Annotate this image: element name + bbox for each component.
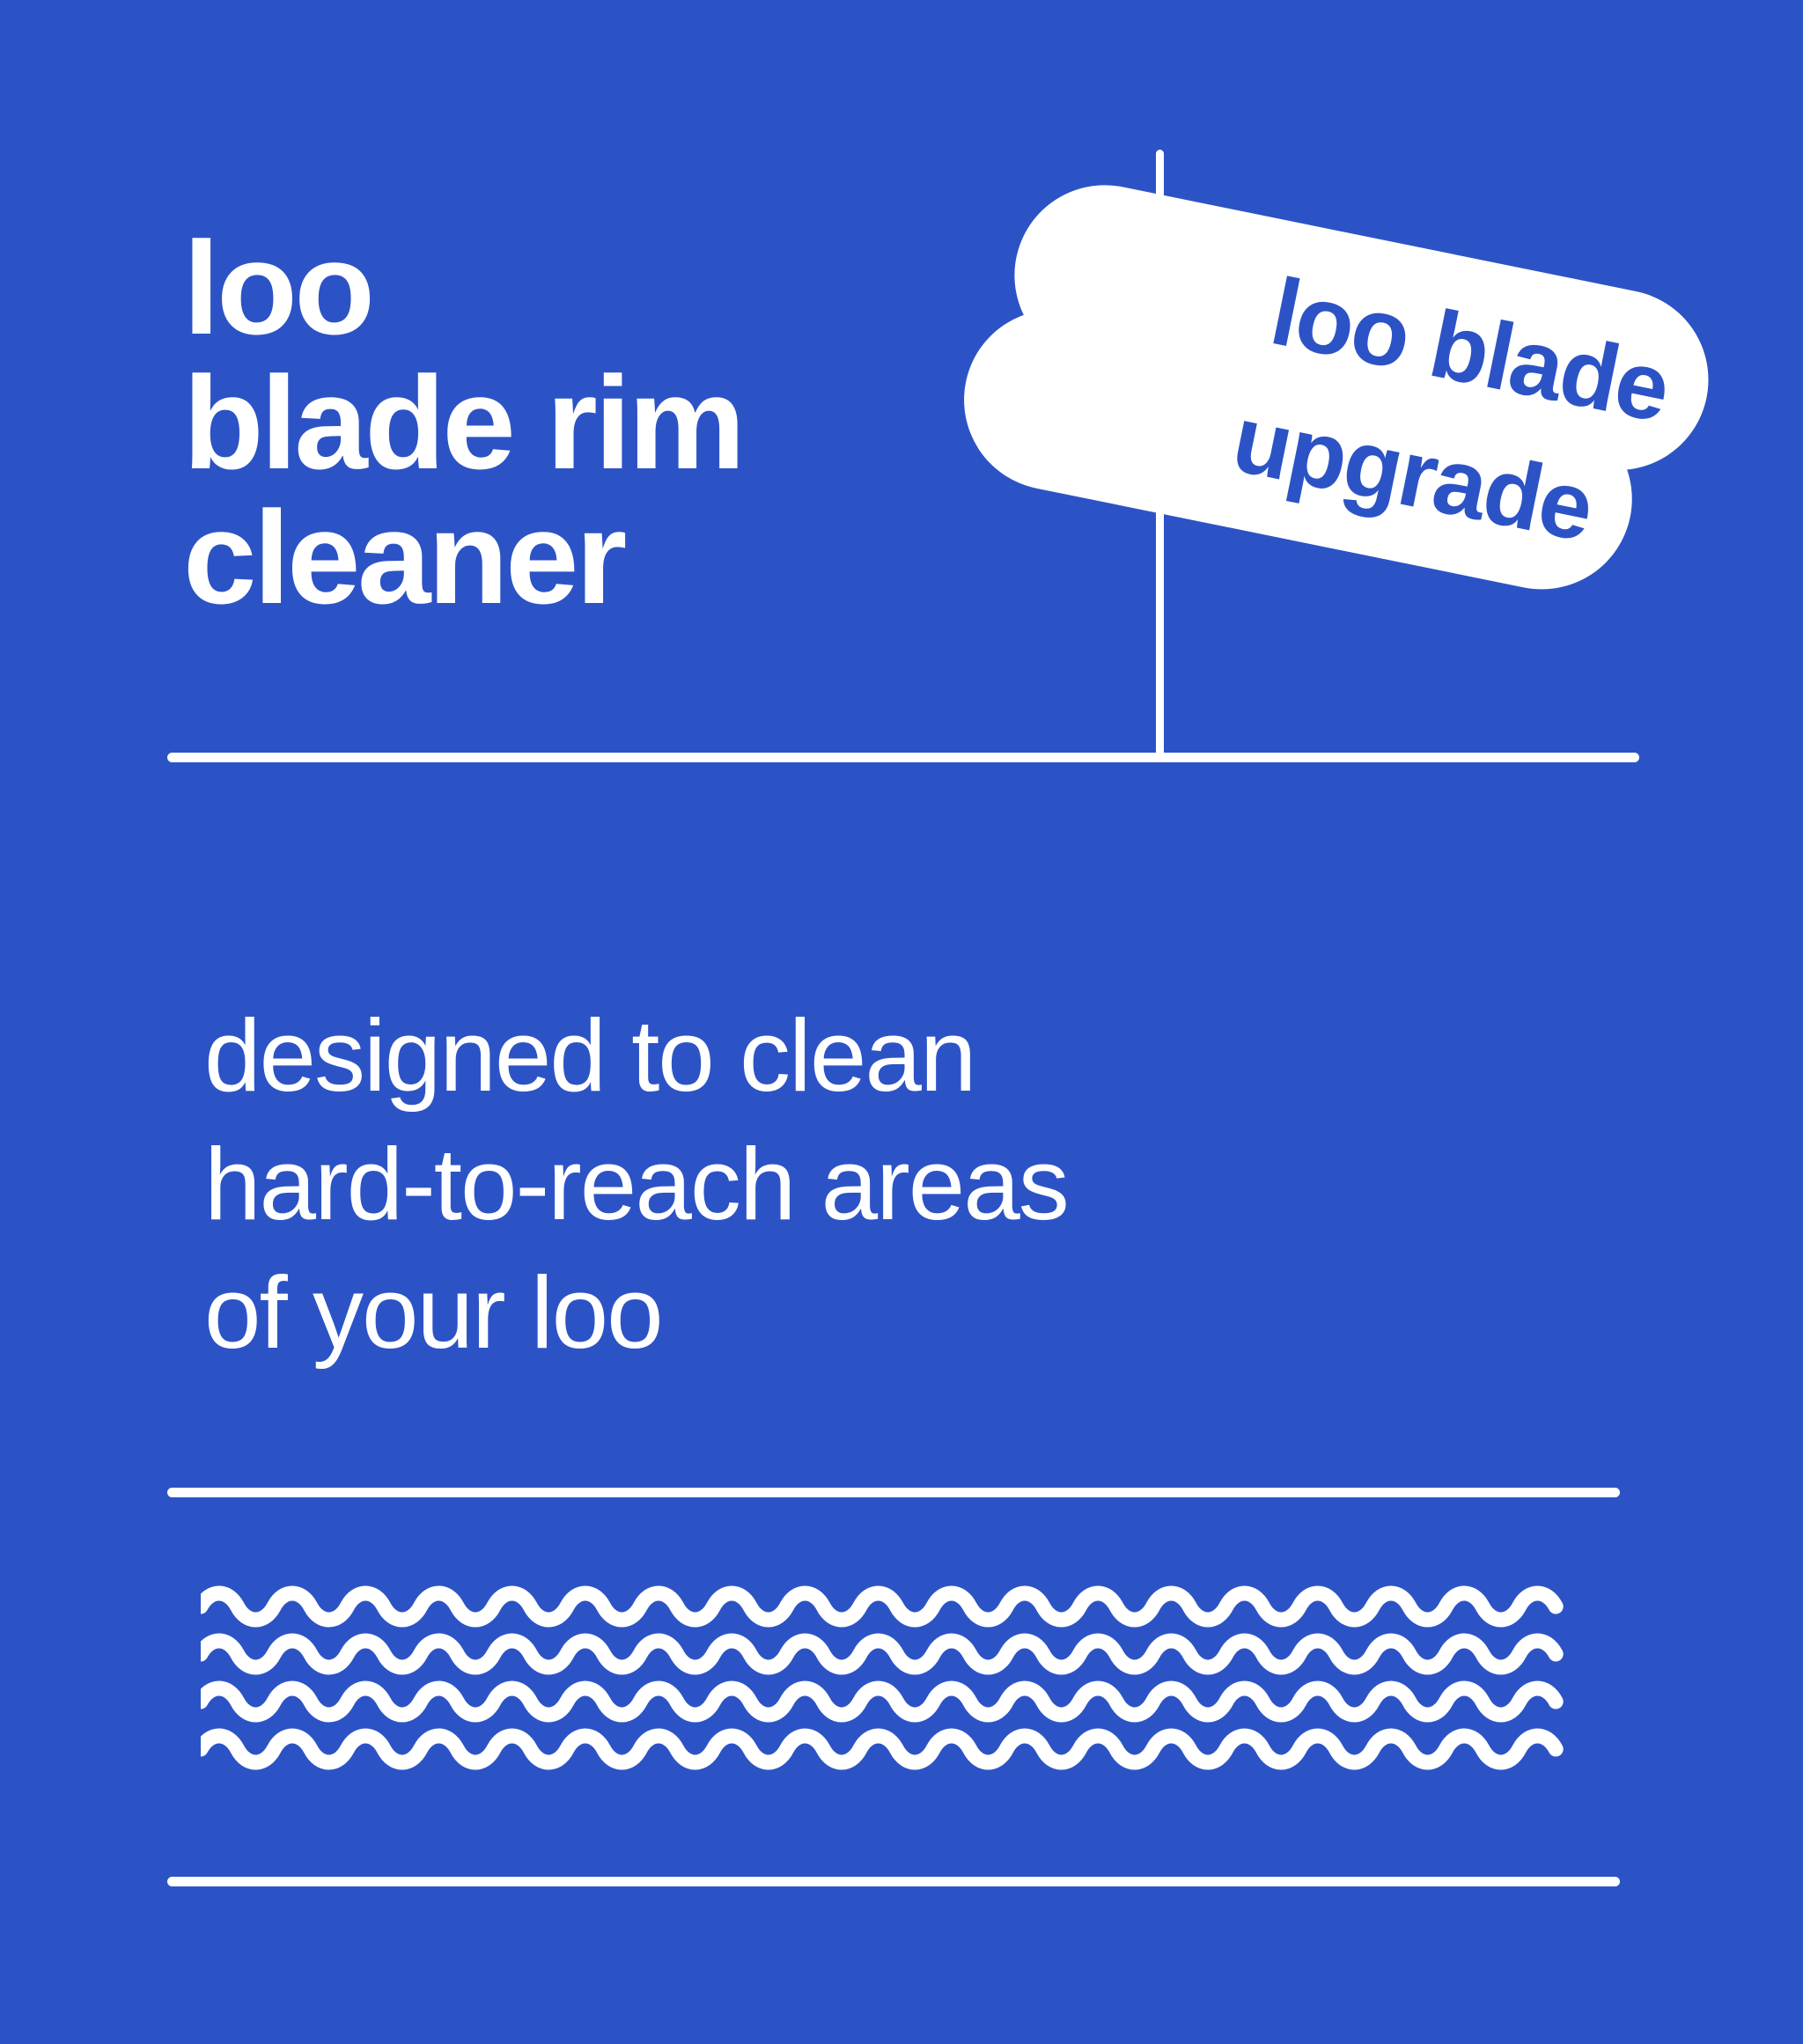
wave-pattern-icon [201,1584,1592,1787]
divider-rule-top [167,753,1639,762]
product-description: designed to clean hard-to-reach areas of… [204,991,1630,1377]
wave-row-4 [201,1736,1556,1762]
divider-rule-middle [167,1488,1620,1497]
badge-label-line2: upgrade [1225,390,1600,555]
poster-canvas: loo blade rim cleaner loo blade upgrade … [0,0,1803,2044]
wave-row-1 [201,1593,1556,1620]
wave-pattern-decoration [201,1584,1592,1787]
wave-row-3 [201,1688,1556,1715]
divider-rule-bottom [167,1877,1620,1886]
wave-row-2 [201,1641,1556,1667]
